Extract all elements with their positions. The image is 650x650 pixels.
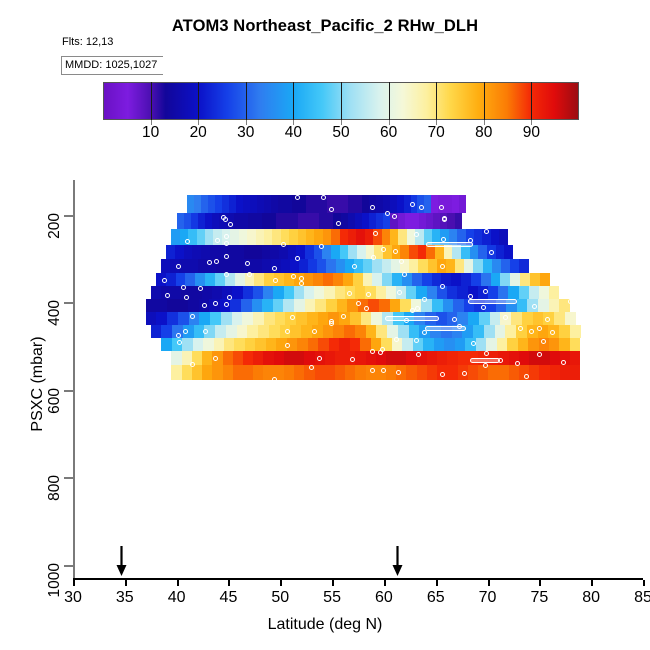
heatmap-cell (443, 299, 454, 312)
heatmap-cell (312, 213, 319, 229)
flight-track-marker (381, 368, 386, 373)
heatmap-cell (363, 273, 373, 286)
flight-track-marker (529, 329, 534, 334)
heatmap-cell (490, 312, 501, 325)
flight-track-marker (214, 259, 219, 264)
heatmap-cell (290, 325, 301, 338)
heatmap-cell (234, 338, 244, 351)
heatmap-cell (451, 273, 461, 286)
heatmap-cell (461, 273, 471, 286)
heatmap-cell (223, 351, 233, 364)
heatmap-band (187, 195, 467, 212)
colorbar-tick-label: 20 (178, 124, 218, 142)
heatmap-cell (273, 299, 284, 312)
heatmap-cell (325, 351, 335, 364)
colorbar-tick-label: 10 (131, 124, 171, 142)
colorbar-separator (484, 82, 485, 120)
heatmap-cell (198, 259, 207, 273)
heatmap-cell (215, 325, 226, 338)
heatmap-cell (215, 273, 225, 286)
heatmap-cell (244, 245, 253, 259)
flight-track-marker (439, 205, 444, 210)
mmdd-annotation-box: MMDD: 1025,1027 (61, 56, 163, 75)
heatmap-cell (397, 195, 404, 212)
heatmap-cell (256, 229, 264, 245)
heatmap-cell (488, 365, 498, 381)
heatmap-cell (156, 299, 167, 312)
heatmap-cell (241, 299, 252, 312)
heatmap-cell (184, 213, 191, 229)
heatmap-cell (318, 312, 329, 325)
heatmap-cell (438, 195, 445, 212)
heatmap-cell (306, 195, 313, 212)
heatmap-cell (205, 229, 213, 245)
heatmap-cell (390, 195, 397, 212)
flight-track-marker (397, 290, 402, 295)
heatmap-cell (455, 213, 462, 229)
heatmap-cell (305, 213, 312, 229)
heatmap-cell (488, 286, 498, 299)
heatmap-cell (191, 213, 198, 229)
heatmap-cell (379, 299, 390, 312)
heatmap-cell (343, 273, 353, 286)
heatmap-cell (510, 259, 519, 273)
heatmap-cell (201, 245, 210, 259)
heatmap-cell (344, 325, 355, 338)
flight-track-marker (329, 319, 334, 324)
heatmap-cell (570, 365, 580, 381)
y-axis-tick-label: 200 (46, 213, 64, 273)
x-axis-tick (539, 580, 541, 586)
heatmap-cell (333, 325, 344, 338)
heatmap-cell (520, 273, 530, 286)
flight-track-marker (176, 264, 181, 269)
x-axis-tick (384, 580, 386, 586)
heatmap-cell (236, 195, 243, 212)
heatmap-cell (340, 245, 349, 259)
heatmap-cell (304, 286, 314, 299)
heatmap-cell (417, 365, 427, 381)
heatmap-cell (335, 286, 345, 299)
heatmap-cell (233, 351, 243, 364)
x-axis-tick (643, 580, 645, 586)
heatmap-cell (305, 299, 316, 312)
heatmap-cell (360, 338, 370, 351)
heatmap-cell (233, 365, 243, 381)
heatmap-cell (519, 259, 528, 273)
heatmap-cell (468, 312, 479, 325)
heatmap-cell (509, 365, 519, 381)
heatmap-cell (235, 273, 245, 286)
heatmap-cell (306, 229, 314, 245)
heatmap-cell (387, 325, 398, 338)
flight-track-marker (483, 289, 488, 294)
latitude-marker-arrow (115, 546, 128, 576)
heatmap-cell (366, 325, 377, 338)
y-axis-tick-label: 600 (46, 388, 64, 448)
heatmap-cell (457, 312, 468, 325)
heatmap-cell (560, 365, 570, 381)
flight-track-marker (321, 195, 326, 200)
heatmap-cell (156, 312, 167, 325)
heatmap-cell (355, 195, 362, 212)
heatmap-cell (390, 229, 398, 245)
heatmap-cell (355, 286, 365, 299)
heatmap-band (151, 286, 560, 299)
heatmap-cell (194, 195, 201, 212)
heatmap-cell (255, 338, 265, 351)
heatmap-cell (235, 259, 244, 273)
flight-track-marker (452, 317, 457, 322)
heatmap-cell (313, 273, 323, 286)
heatmap-cell (177, 213, 184, 229)
heatmap-cell (406, 365, 416, 381)
heatmap-cell (202, 286, 212, 299)
heatmap-cell (222, 195, 229, 212)
heatmap-cell (341, 213, 348, 229)
heatmap-cell (409, 245, 418, 259)
heatmap-cell (264, 195, 271, 212)
heatmap-cell (446, 259, 455, 273)
heatmap-cell (484, 325, 495, 338)
heatmap-cell (187, 195, 194, 212)
colorbar-separator (293, 82, 294, 120)
x-axis-tick-label: 45 (205, 589, 251, 607)
flight-track-marker (285, 329, 290, 334)
heatmap-cell (225, 259, 234, 273)
flight-track-marker (537, 352, 542, 357)
heatmap-cell (434, 338, 444, 351)
flight-track-marker (317, 356, 322, 361)
heatmap-cell (447, 351, 457, 364)
heatmap-cell (171, 351, 181, 364)
x-axis-tick-label: 60 (361, 589, 407, 607)
flight-track-marker (370, 349, 375, 354)
heatmap-cell (507, 338, 517, 351)
heatmap-cell (171, 229, 179, 245)
flight-track-marker (396, 370, 401, 375)
heatmap-cell (299, 195, 306, 212)
colorbar-tick-label: 30 (226, 124, 266, 142)
heatmap-cell (519, 351, 529, 364)
flight-track-marker (299, 281, 304, 286)
heatmap-cell (188, 229, 196, 245)
heatmap-cell (353, 273, 363, 286)
colorbar-separator (341, 82, 342, 120)
flight-track-marker (295, 256, 300, 261)
heatmap-cell (202, 351, 212, 364)
heatmap-cell (175, 245, 184, 259)
heatmap-cell (459, 195, 466, 212)
heatmap-cell (171, 286, 181, 299)
flight-track-marker (364, 306, 369, 311)
heatmap-cell (406, 286, 416, 299)
heatmap-cell (281, 259, 290, 273)
heatmap-cell (412, 213, 419, 229)
heatmap-cell (269, 213, 276, 229)
flight-track-marker (190, 362, 195, 367)
heatmap-cell (323, 325, 334, 338)
heatmap-cell (418, 245, 427, 259)
flight-track-marker (281, 242, 286, 247)
heatmap-cell (530, 273, 540, 286)
flight-track-trace (468, 299, 517, 304)
heatmap-cell (192, 245, 201, 259)
colorbar-separator (389, 82, 390, 120)
heatmap-cell (272, 229, 280, 245)
flight-track-marker (550, 330, 555, 335)
heatmap-cell (501, 259, 510, 273)
heatmap-cell (296, 312, 307, 325)
flight-track-marker (489, 250, 494, 255)
heatmap-cell (298, 229, 306, 245)
heatmap-cell (386, 365, 396, 381)
heatmap-cell (205, 213, 212, 229)
heatmap-cell (504, 245, 513, 259)
heatmap-cell (550, 351, 560, 364)
heatmap-cell (540, 273, 550, 286)
flight-track-marker (352, 264, 357, 269)
heatmap-cell (372, 259, 381, 273)
flight-track-marker (272, 266, 277, 271)
heatmap-cell (284, 365, 294, 381)
heatmap-cell (339, 338, 349, 351)
heatmap-cell (307, 312, 318, 325)
heatmap-cell (565, 312, 576, 325)
heatmap-cell (491, 229, 499, 245)
heatmap-cell (355, 365, 365, 381)
heatmap-cell (473, 259, 482, 273)
y-axis-tick (64, 565, 73, 567)
flight-track-marker (471, 341, 476, 346)
heatmap-cell (299, 259, 308, 273)
heatmap-cell (264, 229, 272, 245)
heatmap-cell (382, 259, 391, 273)
heatmap-cell (166, 245, 175, 259)
flight-track-marker (165, 293, 170, 298)
heatmap-cell (161, 325, 172, 338)
heatmap-cell (276, 213, 283, 229)
heatmap-cell (495, 325, 506, 338)
heatmap-cell (329, 338, 339, 351)
heatmap-cell (247, 229, 255, 245)
colorbar-separator (531, 82, 532, 120)
flight-track-marker (329, 207, 334, 212)
heatmap-cell (570, 325, 581, 338)
heatmap-cell (533, 312, 544, 325)
heatmap-cell (402, 338, 412, 351)
heatmap-cell (195, 273, 205, 286)
flights-annotation: Flts: 12,13 (62, 36, 113, 48)
heatmap-cell (453, 299, 464, 312)
heatmap-plot-area (73, 180, 643, 578)
flight-track-marker (561, 360, 566, 365)
heatmap-cell (505, 325, 516, 338)
heatmap-cell (208, 195, 215, 212)
heatmap-cell (371, 312, 382, 325)
heatmap-cell (386, 286, 396, 299)
heatmap-cell (382, 273, 392, 286)
heatmap-cell (146, 312, 157, 325)
heatmap-cell (275, 312, 286, 325)
heatmap-cell (376, 213, 383, 229)
flight-track-marker (415, 306, 420, 311)
heatmap-cell (232, 286, 242, 299)
heatmap-cell (471, 273, 481, 286)
flight-track-marker (524, 374, 529, 379)
flight-track-marker (224, 254, 229, 259)
heatmap-cell (510, 273, 520, 286)
heatmap-cell (284, 351, 294, 364)
y-axis-tick (64, 390, 73, 392)
heatmap-cell (171, 365, 181, 381)
heatmap-cell (444, 338, 454, 351)
heatmap-band (146, 312, 576, 325)
heatmap-cell (245, 338, 255, 351)
heatmap-cell (253, 312, 264, 325)
heatmap-cell (400, 245, 409, 259)
heatmap-cell (301, 325, 312, 338)
heatmap-cell (445, 195, 452, 212)
x-axis-tick (177, 580, 179, 586)
x-axis-tick-label: 65 (413, 589, 459, 607)
heatmap-cell (326, 259, 335, 273)
flight-track-marker (392, 214, 397, 219)
heatmap-cell (376, 195, 383, 212)
heatmap-cell (315, 365, 325, 381)
heatmap-cell (205, 273, 215, 286)
heatmap-cell (230, 299, 241, 312)
heatmap-cell (167, 299, 178, 312)
heatmap-cell (419, 213, 426, 229)
heatmap-cell (455, 259, 464, 273)
flight-track-marker (410, 308, 415, 313)
heatmap-cell (202, 365, 212, 381)
flight-track-marker (393, 249, 398, 254)
heatmap-cell (189, 259, 198, 273)
heatmap-cell (550, 365, 560, 381)
heatmap-cell (250, 195, 257, 212)
heatmap-cell (468, 365, 478, 381)
x-axis-tick (591, 580, 593, 586)
colorbar-separator (246, 82, 247, 120)
x-axis-tick-label: 70 (465, 589, 511, 607)
heatmap-cell (549, 299, 560, 312)
y-axis-tick (64, 302, 73, 304)
heatmap-cell (529, 365, 539, 381)
heatmap-cell (479, 312, 490, 325)
heatmap-cell (331, 229, 339, 245)
heatmap-cell (193, 338, 203, 351)
heatmap-cell (498, 286, 508, 299)
heatmap-cell (188, 299, 199, 312)
heatmap-cell (464, 259, 473, 273)
heatmap-cell (426, 213, 433, 229)
heatmap-cell (382, 229, 390, 245)
y-axis-tick (64, 215, 73, 217)
heatmap-cell (350, 312, 361, 325)
heatmap-cell (210, 245, 219, 259)
heatmap-cell (549, 286, 559, 299)
heatmap-cell (348, 245, 357, 259)
heatmap-cell (528, 338, 538, 351)
heatmap-cell (447, 365, 457, 381)
page-title: ATOM3 Northeast_Pacific_2 RHw_DLH (0, 17, 650, 36)
heatmap-cell (257, 195, 264, 212)
heatmap-cell (333, 273, 343, 286)
heatmap-cell (221, 312, 232, 325)
heatmap-cell (423, 338, 433, 351)
flight-track-marker (366, 292, 371, 297)
heatmap-cell (554, 312, 565, 325)
flight-track-marker (410, 202, 415, 207)
heatmap-cell (324, 286, 334, 299)
flight-track-marker (537, 326, 542, 331)
x-axis-tick (125, 580, 127, 586)
heatmap-cell (304, 351, 314, 364)
heatmap-cell (210, 312, 221, 325)
colorbar (103, 82, 579, 120)
flight-track-marker (213, 301, 218, 306)
heatmap-cell (350, 338, 360, 351)
heatmap-cell (355, 213, 362, 229)
heatmap-cell (313, 195, 320, 212)
heatmap-cell (497, 338, 507, 351)
colorbar-tick-label: 60 (369, 124, 409, 142)
x-axis-tick (280, 580, 282, 586)
heatmap-cell (392, 273, 402, 286)
heatmap-cell (517, 299, 528, 312)
heatmap-cell (212, 365, 222, 381)
colorbar-separator (436, 82, 437, 120)
flight-track-marker (419, 205, 424, 210)
heatmap-cell (305, 245, 314, 259)
heatmap-cell (317, 259, 326, 273)
heatmap-cell (308, 338, 318, 351)
flight-track-trace (426, 242, 472, 247)
heatmap-cell (146, 299, 157, 312)
y-axis-tick-label: 1000 (46, 563, 64, 623)
y-axis-tick-label: 800 (46, 475, 64, 535)
heatmap-cell (304, 273, 314, 286)
heatmap-cell (176, 273, 186, 286)
heatmap-cell (398, 325, 409, 338)
heatmap-cell (365, 229, 373, 245)
heatmap-cell (355, 325, 366, 338)
heatmap-cell (241, 213, 248, 229)
x-axis-tick-label: 55 (309, 589, 355, 607)
heatmap-cell (198, 213, 205, 229)
figure-canvas: ATOM3 Northeast_Pacific_2 RHw_DLH Flts: … (0, 0, 650, 650)
heatmap-cell (326, 213, 333, 229)
heatmap-cell (262, 245, 271, 259)
heatmap-cell (253, 365, 263, 381)
heatmap-cell (486, 338, 496, 351)
heatmap-cell (348, 229, 356, 245)
heatmap-cell (298, 213, 305, 229)
heatmap-cell (230, 229, 238, 245)
y-axis-line (73, 180, 75, 580)
heatmap-cell (372, 273, 382, 286)
heatmap-cell (242, 312, 253, 325)
heatmap-cell (243, 351, 253, 364)
heatmap-cell (177, 299, 188, 312)
heatmap-cell (151, 286, 161, 299)
heatmap-cell (355, 351, 365, 364)
heatmap-cell (243, 195, 250, 212)
heatmap-cell (253, 351, 263, 364)
heatmap-cell (229, 195, 236, 212)
